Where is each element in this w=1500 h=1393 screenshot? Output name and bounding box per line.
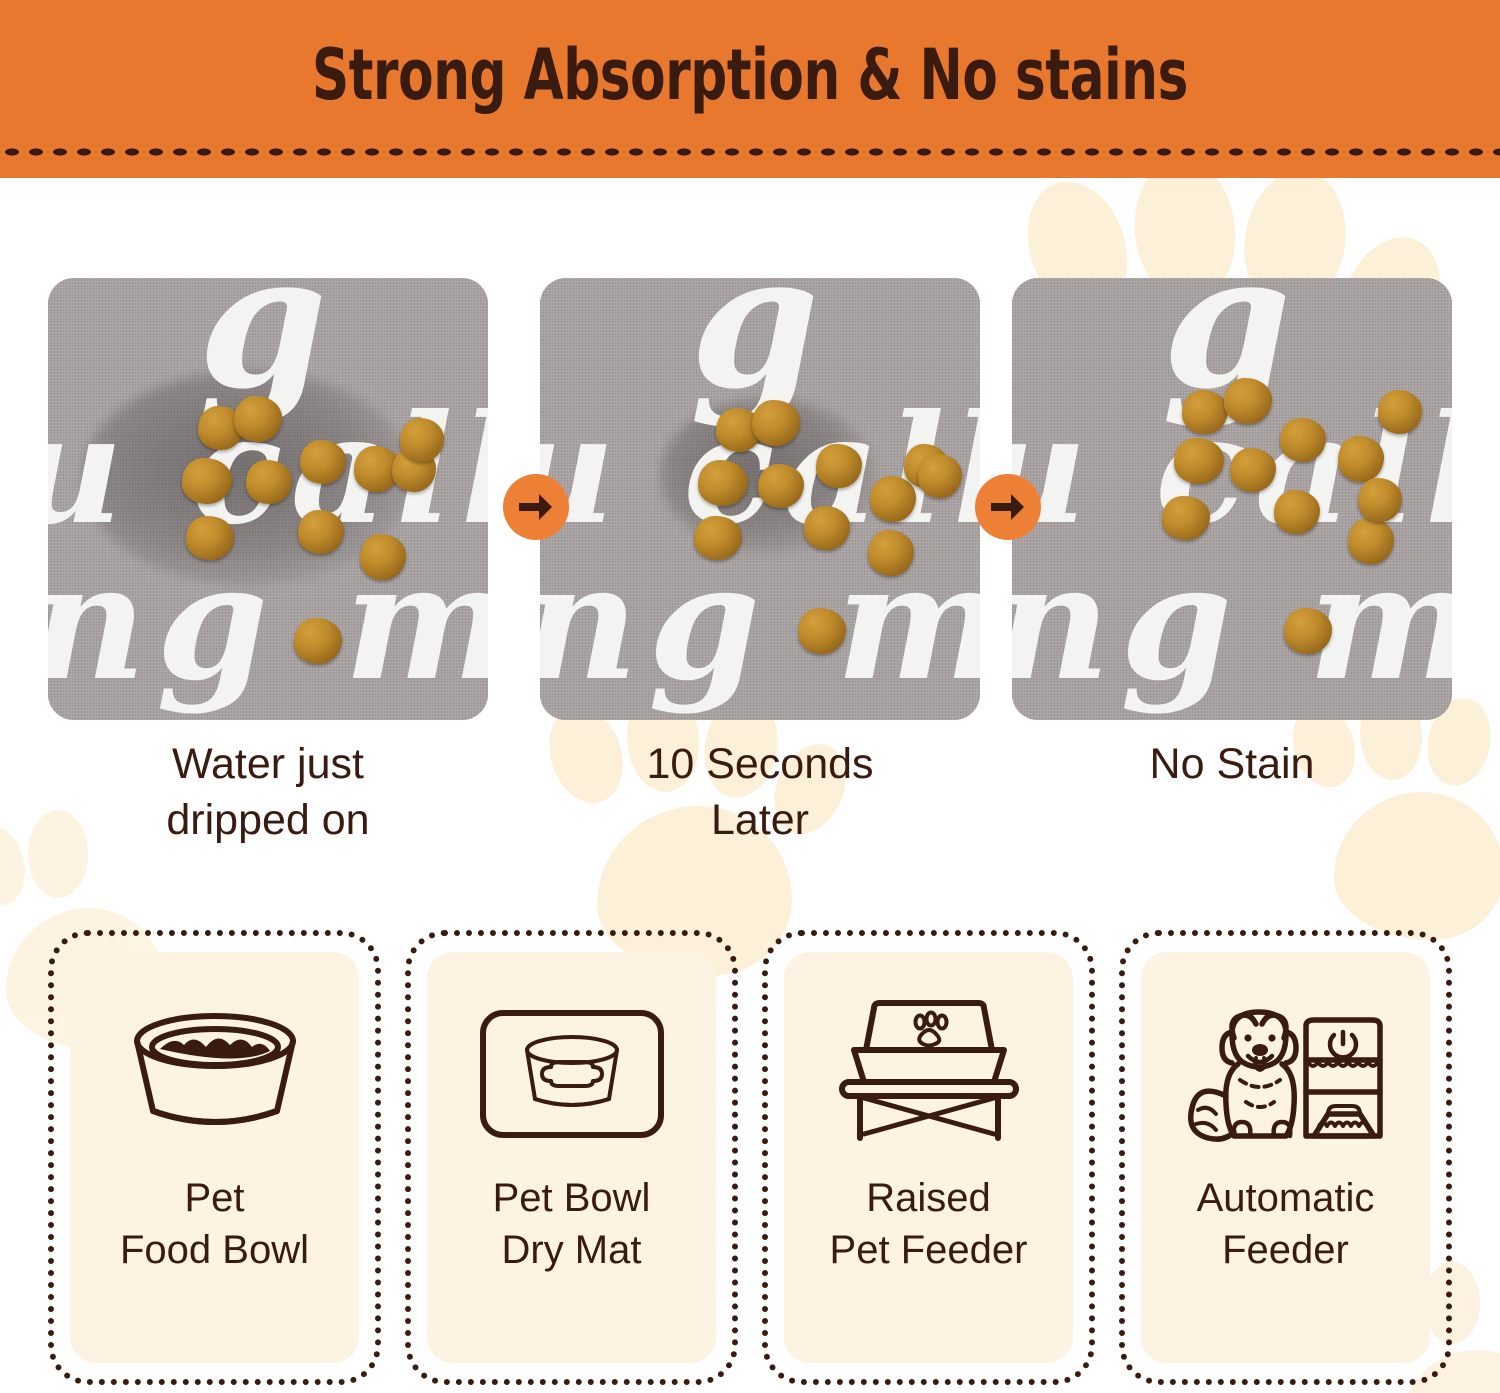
card-label: Pet Food Bowl [120,1172,309,1276]
kibble-piece [798,608,846,654]
caption-line-1: No Stain [1012,736,1452,792]
kibble-piece [1182,390,1228,434]
kibble-piece [1358,478,1402,522]
pet-food-bowl-icon [115,988,315,1158]
kibble-piece [752,400,800,446]
kibble-piece [1280,418,1326,462]
demo-panel-ten-seconds: g u call ng me [540,278,980,720]
caption-line-2: Later [540,792,980,848]
demo-panel-water-dripped: g u call ng me [48,278,488,720]
caption-no-stain: No Stain [1012,736,1452,792]
kibble-piece [298,510,344,554]
kibble-piece [868,530,914,576]
demo-panel-no-stain: g u call ng me [1012,278,1452,720]
card-inner: Pet Food Bowl [70,952,359,1363]
kibble-piece [758,464,804,508]
kibble-piece [1284,608,1332,654]
card-label-line-1: Automatic [1197,1172,1375,1224]
kibble-piece [186,516,234,560]
kibble-piece [246,460,292,504]
kibble-piece [1224,378,1272,424]
kibble-piece [918,454,962,498]
kibble-piece [234,396,282,442]
caption-ten-seconds: 10 Seconds Later [540,736,980,848]
kibble-piece [1348,518,1394,564]
caption-line-1: 10 Seconds [540,736,980,792]
card-label-line-2: Dry Mat [493,1224,651,1276]
card-inner: Raised Pet Feeder [784,952,1073,1363]
card-inner: Pet Bowl Dry Mat [427,952,716,1363]
use-case-card-automatic-feeder[interactable]: Automatic Feeder [1119,930,1452,1385]
pet-bowl-dry-mat-icon [472,988,672,1158]
caption-line-2: dripped on [48,792,488,848]
card-label-line-2: Food Bowl [120,1224,309,1276]
card-label-line-1: Raised [830,1172,1028,1224]
absorption-demo-row: g u call ng me [48,278,1452,720]
kibble-piece [1378,390,1422,434]
automatic-feeder-icon [1186,988,1386,1158]
raised-pet-feeder-icon [829,988,1029,1158]
kibble-piece [694,516,742,560]
card-label-line-2: Feeder [1197,1224,1375,1276]
card-label-line-1: Pet Bowl [493,1172,651,1224]
caption-water-dripped: Water just dripped on [48,736,488,848]
use-case-card-raised-pet-feeder[interactable]: Raised Pet Feeder [762,930,1095,1385]
card-label: Raised Pet Feeder [830,1172,1028,1276]
kibble-piece [1338,436,1384,482]
product-infographic: Strong Absorption & No stains g u call n… [0,0,1500,1393]
kibble-piece [698,460,748,506]
card-label: Pet Bowl Dry Mat [493,1172,651,1276]
kibble-piece [300,440,346,484]
card-inner: Automatic Feeder [1141,952,1430,1363]
kibble-piece [1162,496,1210,540]
kibble-piece [400,418,444,462]
dotted-divider-icon [0,146,1500,158]
kibble-piece [182,458,232,504]
kibble-piece [294,618,342,664]
kibble-piece [804,506,850,550]
kibble-piece [360,534,406,580]
kibble-piece [816,444,862,488]
use-case-card-pet-bowl-dry-mat[interactable]: Pet Bowl Dry Mat [405,930,738,1385]
header-banner: Strong Absorption & No stains [0,0,1500,178]
page-title: Strong Absorption & No stains [135,34,1365,116]
kibble-piece [1174,438,1224,484]
use-case-card-pet-food-bowl[interactable]: Pet Food Bowl [48,930,381,1385]
caption-line-1: Water just [48,736,488,792]
demo-captions: Water just dripped on 10 Seconds Later N… [48,736,1452,866]
card-label: Automatic Feeder [1197,1172,1375,1276]
card-label-line-1: Pet [120,1172,309,1224]
kibble-piece [1230,448,1276,492]
card-label-line-2: Pet Feeder [830,1224,1028,1276]
kibble-piece [870,476,916,522]
arrow-right-icon [975,474,1041,540]
arrow-right-icon [503,474,569,540]
kibble-piece [1274,490,1320,534]
use-case-cards: Pet Food Bowl Pet Bowl [48,930,1452,1385]
